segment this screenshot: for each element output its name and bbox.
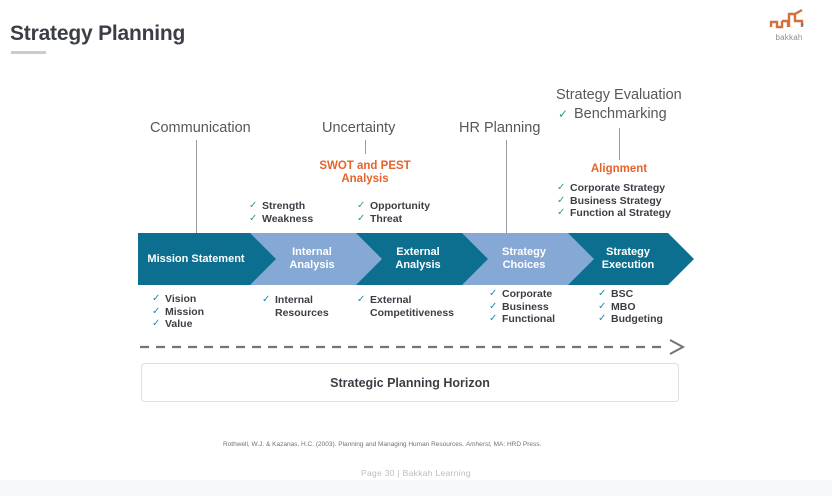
chevron-label-strategy-execution: Strategy Execution	[578, 246, 678, 271]
footer-page-info: Page 30 | Bakkah Learning	[0, 468, 832, 478]
list-item: ✓ Business Strategy	[557, 195, 671, 208]
list-item-label-cont: Resources	[275, 307, 329, 320]
source-citation: Rothwell, W.J. & Kazanas, H.C. (2003). P…	[223, 441, 541, 448]
check-icon: ✓	[598, 301, 611, 314]
chevron-label-line1: Mission Statement	[140, 253, 252, 266]
connector-line-communication	[196, 140, 197, 248]
list-mission-statement-lower: ✓ Vision ✓ Mission ✓ Value	[152, 293, 204, 331]
callout-communication: Communication	[150, 120, 251, 136]
check-icon: ✓	[557, 207, 570, 220]
check-icon: ✓	[152, 306, 165, 319]
strategic-planning-horizon-box: Strategic Planning Horizon	[141, 363, 679, 402]
list-item-label: Mission	[165, 306, 204, 319]
chevron-label-line1: Strategy	[474, 246, 574, 259]
benchmarking-item: ✓ Benchmarking	[558, 106, 667, 122]
chevron-label-line1: Internal	[262, 246, 362, 259]
heading-swot-pest: SWOT and PEST Analysis	[302, 160, 428, 186]
list-item: ✓ Weakness	[249, 213, 313, 226]
check-icon: ✓	[357, 213, 370, 226]
chevron-label-strategy-choices: Strategy Choices	[474, 246, 574, 271]
check-icon: ✓	[558, 108, 574, 121]
list-strategy-execution-upper: ✓ Corporate Strategy ✓ Business Strategy…	[557, 182, 671, 220]
list-item: ✓ Value	[152, 318, 204, 331]
check-icon: ✓	[489, 288, 502, 301]
check-icon: ✓	[357, 294, 370, 307]
check-icon: ✓	[152, 293, 165, 306]
list-item-label: Corporate	[502, 288, 552, 301]
chevron-label-line1: External	[368, 246, 468, 259]
chevron-label-mission-statement: Mission Statement	[140, 253, 252, 266]
list-item: ✓ MBO	[598, 301, 663, 314]
list-item: ✓ Mission	[152, 306, 204, 319]
check-icon: ✓	[249, 213, 262, 226]
check-icon: ✓	[489, 313, 502, 326]
list-item-label-cont: Competitiveness	[370, 307, 454, 320]
arrow-head-icon	[670, 340, 683, 354]
horizon-label: Strategic Planning Horizon	[330, 376, 490, 390]
list-item: ✓ Internal Resources	[262, 294, 329, 319]
list-item: ✓ Opportunity	[357, 200, 430, 213]
callout-uncertainty: Uncertainty	[322, 120, 395, 136]
list-internal-analysis-lower: ✓ Internal Resources	[262, 294, 329, 319]
horizon-dashed-arrow	[140, 338, 688, 356]
heading-swot-pest-line2: Analysis	[302, 173, 428, 186]
list-item: ✓ Strength	[249, 200, 313, 213]
callout-strategy-evaluation: Strategy Evaluation	[556, 87, 682, 103]
list-item-label: MBO	[611, 301, 636, 314]
list-strategy-choices-lower: ✓ Corporate ✓ Business ✓ Functional	[489, 288, 555, 326]
check-icon: ✓	[598, 288, 611, 301]
chevron-label-line1: Strategy	[578, 246, 678, 259]
list-item-label: Opportunity	[370, 200, 430, 213]
list-item-label: Weakness	[262, 213, 313, 226]
list-item-label: Functional	[502, 313, 555, 326]
list-item-label: Strength	[262, 200, 305, 213]
chevron-label-line2: Analysis	[262, 259, 362, 272]
list-item-label: Business	[502, 301, 549, 314]
check-icon: ✓	[152, 318, 165, 331]
list-item: ✓ Corporate	[489, 288, 555, 301]
chevron-label-internal-analysis: Internal Analysis	[262, 246, 362, 271]
chevron-label-line2: Execution	[578, 259, 678, 272]
chevron-label-line2: Analysis	[368, 259, 468, 272]
list-item: ✓ Functional	[489, 313, 555, 326]
list-strategy-execution-lower: ✓ BSC ✓ MBO ✓ Budgeting	[598, 288, 663, 326]
list-item-label: Business Strategy	[570, 195, 662, 208]
strategy-planning-diagram: Communication Uncertainty HR Planning St…	[0, 0, 832, 496]
check-icon: ✓	[598, 313, 611, 326]
list-external-analysis-lower: ✓ External Competitiveness	[357, 294, 454, 319]
list-item-label: BSC	[611, 288, 633, 301]
callout-hr-planning: HR Planning	[459, 120, 540, 136]
list-item-label: Vision	[165, 293, 196, 306]
benchmarking-label: Benchmarking	[574, 106, 667, 122]
list-item-label: Value	[165, 318, 192, 331]
check-icon: ✓	[249, 200, 262, 213]
connector-line-uncertainty	[365, 140, 366, 154]
list-item-label: Internal	[275, 294, 329, 307]
check-icon: ✓	[262, 294, 275, 307]
list-item: ✓ Budgeting	[598, 313, 663, 326]
list-item-label: Corporate Strategy	[570, 182, 665, 195]
chevron-label-external-analysis: External Analysis	[368, 246, 468, 271]
heading-alignment: Alignment	[566, 163, 672, 176]
citation-italic: Amherst,	[466, 441, 492, 448]
list-internal-analysis-upper: ✓ Strength ✓ Weakness	[249, 200, 313, 225]
list-external-analysis-upper: ✓ Opportunity ✓ Threat	[357, 200, 430, 225]
heading-swot-pest-line1: SWOT and PEST	[302, 160, 428, 173]
check-icon: ✓	[557, 182, 570, 195]
check-icon: ✓	[557, 195, 570, 208]
citation-part1: Rothwell, W.J. & Kazanas, H.C. (2003). P…	[223, 441, 466, 448]
check-icon: ✓	[489, 301, 502, 314]
list-item-label: Function al Strategy	[570, 207, 671, 220]
list-item: ✓ Vision	[152, 293, 204, 306]
connector-line-strategy-evaluation	[619, 128, 620, 160]
list-item: ✓ BSC	[598, 288, 663, 301]
list-item: ✓ Function al Strategy	[557, 207, 671, 220]
list-item-label: Threat	[370, 213, 402, 226]
citation-part2: MA: HRD Press.	[492, 441, 541, 448]
list-item-label: External	[370, 294, 454, 307]
list-item: ✓ Threat	[357, 213, 430, 226]
list-item: ✓ External Competitiveness	[357, 294, 454, 319]
chevron-label-line2: Choices	[474, 259, 574, 272]
list-item-label: Budgeting	[611, 313, 663, 326]
list-item: ✓ Business	[489, 301, 555, 314]
footer-band	[0, 480, 832, 496]
connector-line-hr-planning	[506, 140, 507, 248]
list-item: ✓ Corporate Strategy	[557, 182, 671, 195]
heading-alignment-line1: Alignment	[566, 163, 672, 176]
check-icon: ✓	[357, 200, 370, 213]
